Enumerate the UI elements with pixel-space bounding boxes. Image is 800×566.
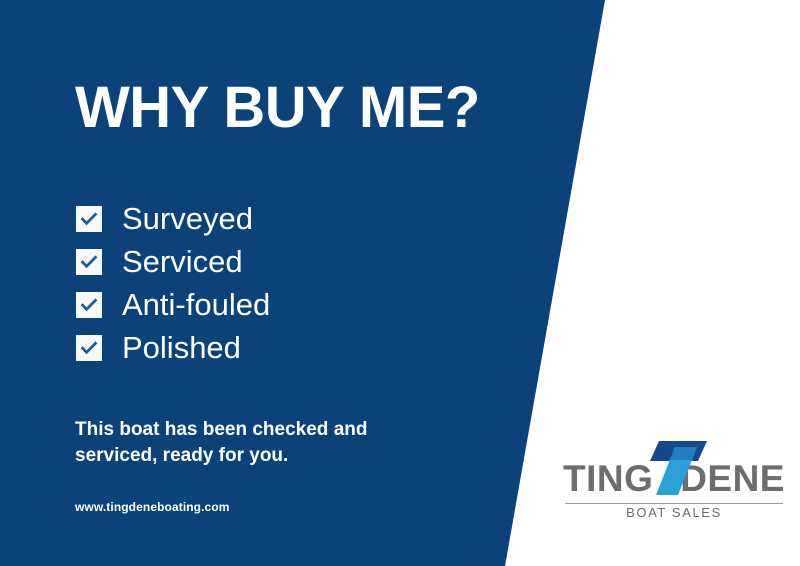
logo-divider: [565, 503, 783, 504]
benefit-label: Anti-fouled: [122, 289, 270, 320]
logo-subtitle: BOAT SALES: [563, 506, 785, 521]
benefits-checklist: Surveyed Serviced Anti-fouled: [76, 197, 270, 369]
list-item: Serviced: [76, 240, 270, 283]
page-title: WHY BUY ME?: [75, 78, 480, 139]
list-item: Surveyed: [76, 197, 270, 240]
logo-word-left: TING: [563, 460, 653, 497]
benefit-label: Serviced: [122, 246, 243, 277]
benefit-label: Polished: [122, 332, 241, 363]
list-item: Polished: [76, 326, 270, 369]
checkbox-checked-icon: [76, 249, 102, 275]
why-buy-me-banner: WHY BUY ME? Surveyed Serviced: [0, 0, 800, 566]
tingdene-boat-sales-logo: TING DENE BOAT SALES: [563, 437, 785, 522]
list-item: Anti-fouled: [76, 283, 270, 326]
benefit-label: Surveyed: [122, 203, 253, 234]
website-url[interactable]: www.tingdeneboating.com: [75, 500, 230, 514]
checkbox-checked-icon: [76, 206, 102, 232]
logo-t-mark-icon: [645, 437, 711, 499]
checkbox-checked-icon: [76, 292, 102, 318]
tagline-text: This boat has been checked and serviced,…: [75, 417, 405, 468]
checkbox-checked-icon: [76, 335, 102, 361]
